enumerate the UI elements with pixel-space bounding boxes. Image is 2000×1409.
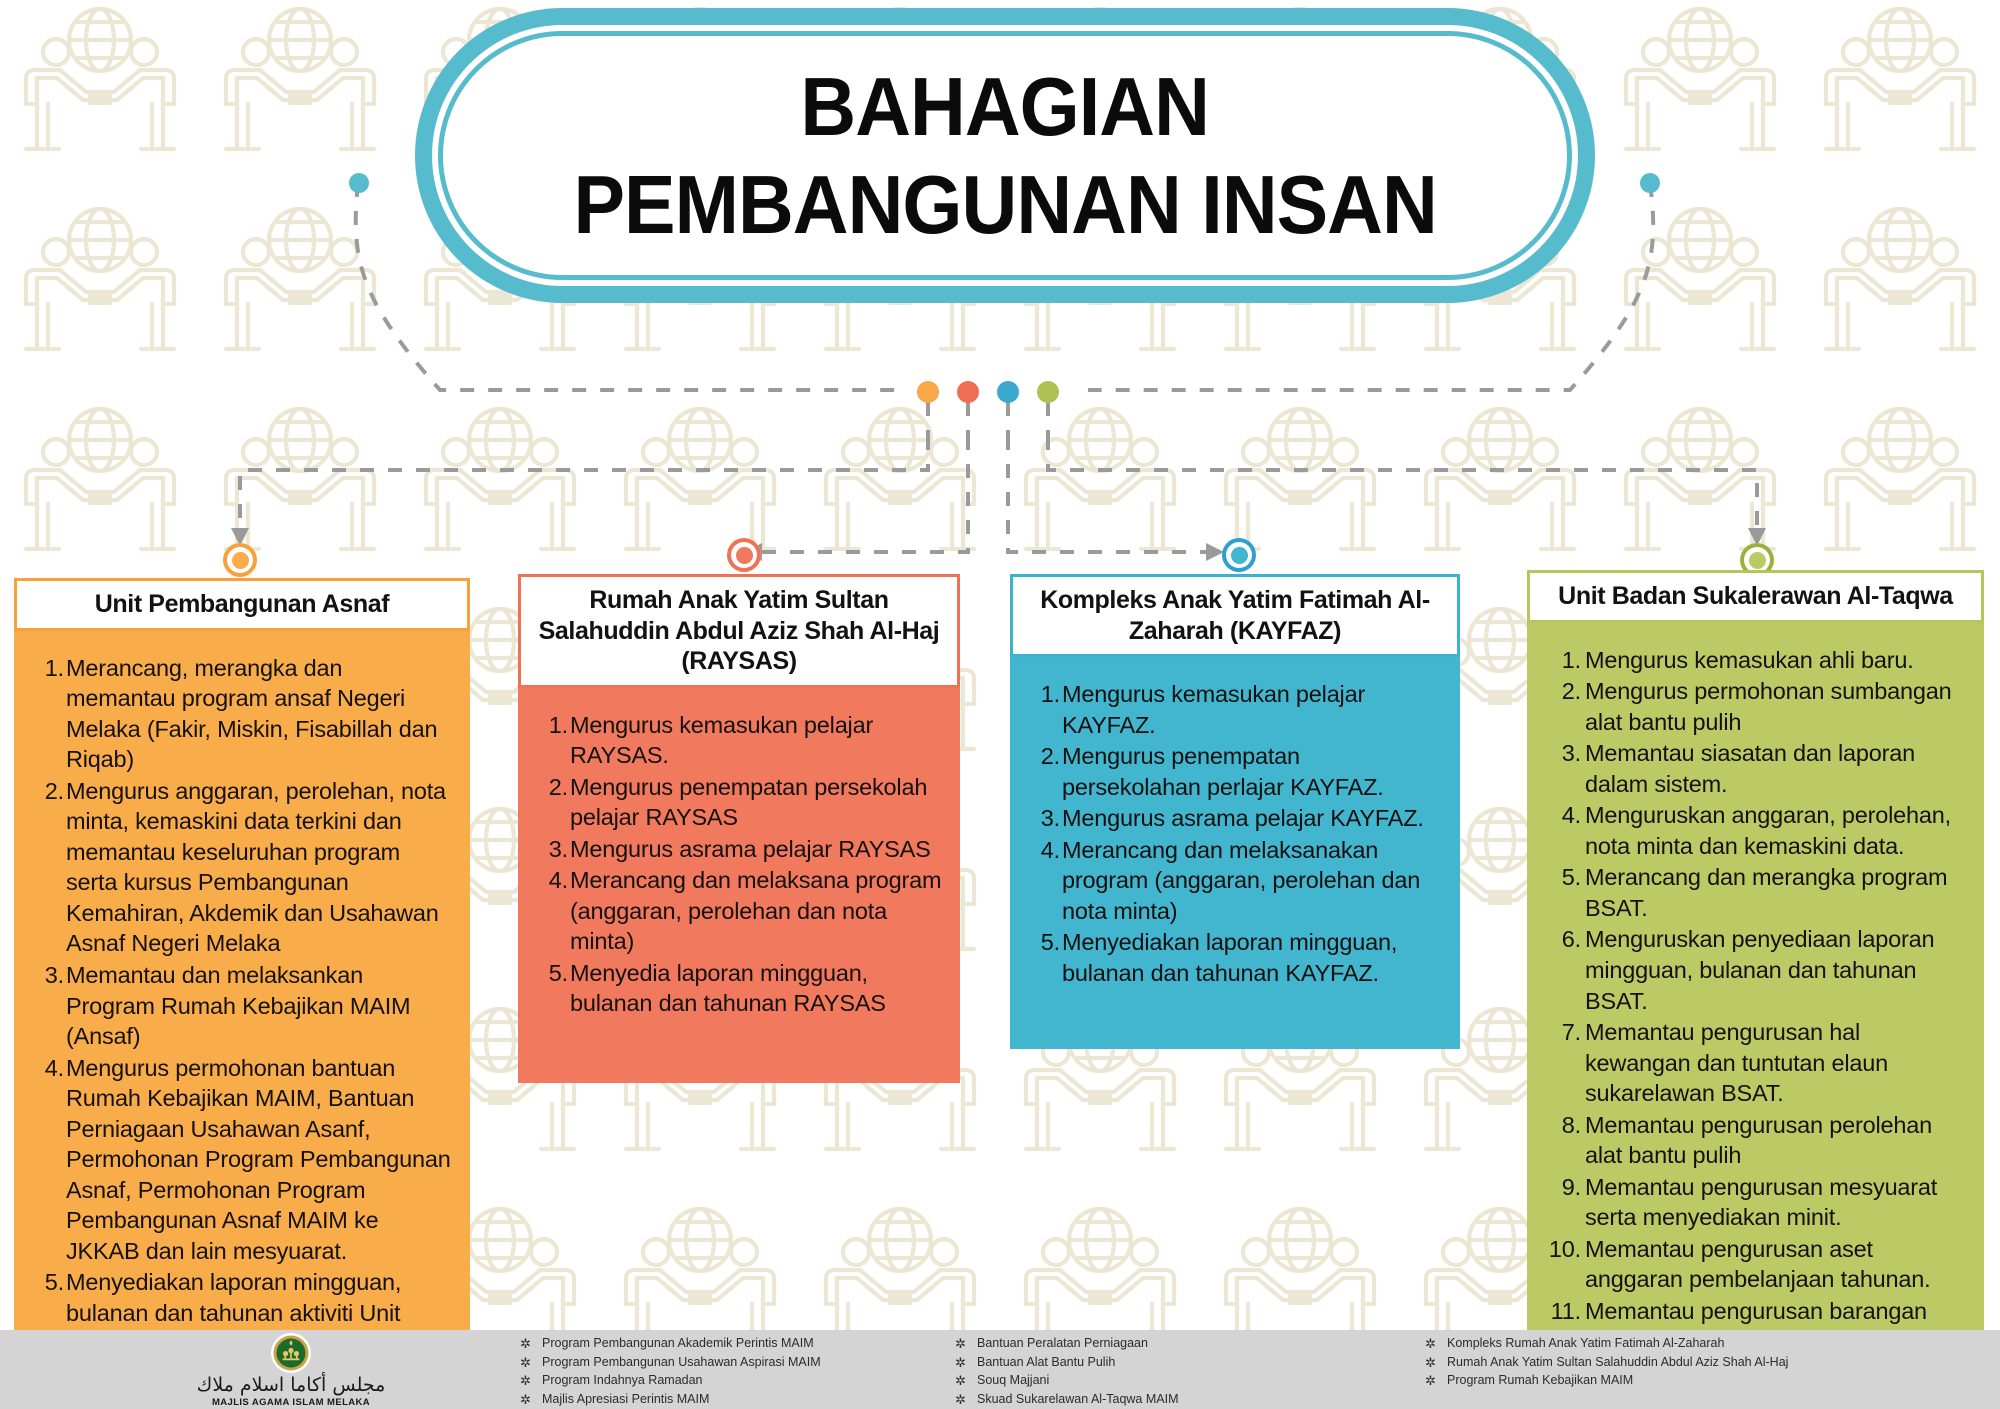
asterisk-bullet-icon: ✲ [955,1393,977,1406]
footer-list-item: ✲ Program Pembangunan Akademik Perintis … [520,1337,940,1350]
footer-list-item-label: Skuad Sukarelawan Al-Taqwa MAIM [977,1393,1178,1406]
list-item: Menyediakan laporan mingguan, bulanan da… [1024,927,1442,988]
footer-list-item-label: Program Indahnya Ramadan [542,1374,703,1387]
hub-dot-green [1037,381,1059,403]
list-item: Mengurus anggaran, perolehan, nota minta… [28,776,452,959]
footer-bar: مجلس أكاما اسلام ملاك MAJLIS AGAMA ISLAM… [0,1330,2000,1409]
list-item: Merancang dan melaksana program (anggara… [532,865,942,957]
list-item: Menyedia laporan mingguan, bulanan dan t… [532,958,942,1019]
poster-header-banner: BAHAGIAN PEMBANGUNAN INSAN [415,8,1595,303]
asterisk-bullet-icon: ✲ [520,1393,542,1406]
list-item: Mengurus penempatan persekolah pelajar R… [532,772,942,833]
list-item: Mengurus asrama pelajar RAYSAS [532,834,942,865]
column-body-raysas: Mengurus kemasukan pelajar RAYSAS. Mengu… [518,688,960,1083]
asterisk-bullet-icon: ✲ [520,1337,542,1350]
task-list-kayfaz: Mengurus kemasukan pelajar KAYFAZ. Mengu… [1024,679,1442,988]
footer-list-item: ✲ Rumah Anak Yatim Sultan Salahuddin Abd… [1425,1356,1985,1369]
footer-list-item-label: Program Pembangunan Usahawan Aspirasi MA… [542,1356,821,1369]
footer-list-item: ✲ Program Rumah Kebajikan MAIM [1425,1374,1985,1387]
hub-dot-red [957,381,979,403]
footer-list-item-label: Majlis Apresiasi Perintis MAIM [542,1393,709,1406]
list-item: Memantau siasatan dan laporan dalam sist… [1541,738,1966,799]
list-item: Mengurus kemasukan ahli baru. [1541,645,1966,676]
footer-list-item: ✲ Souq Majjani [955,1374,1385,1387]
footer-list-item-label: Souq Majjani [977,1374,1049,1387]
footer-list-item: ✲ Skuad Sukarelawan Al-Taqwa MAIM [955,1393,1385,1406]
footer-program-list-3: ✲ Kompleks Rumah Anak Yatim Fatimah Al-Z… [1425,1337,1985,1393]
footer-list-item-label: Program Pembangunan Akademik Perintis MA… [542,1337,814,1350]
column-body-kayfaz: Mengurus kemasukan pelajar KAYFAZ. Mengu… [1010,657,1460,1049]
asterisk-bullet-icon: ✲ [520,1374,542,1387]
list-item: Memantau dan melaksankan Program Rumah K… [28,960,452,1052]
asterisk-bullet-icon: ✲ [955,1337,977,1350]
column-title-kayfaz: Kompleks Anak Yatim Fatimah Al-Zaharah (… [1023,585,1447,646]
column-body-bsat: Mengurus kemasukan ahli baru. Mengurus p… [1527,623,1984,1379]
task-list-raysas: Mengurus kemasukan pelajar RAYSAS. Mengu… [532,710,942,1019]
footer-list-item-label: Kompleks Rumah Anak Yatim Fatimah Al-Zah… [1447,1337,1724,1350]
footer-list-item: ✲ Kompleks Rumah Anak Yatim Fatimah Al-Z… [1425,1337,1985,1350]
list-item: Mengurus penempatan persekolahan perlaja… [1024,741,1442,802]
task-list-bsat: Mengurus kemasukan ahli baru. Mengurus p… [1541,645,1966,1358]
asterisk-bullet-icon: ✲ [520,1356,542,1369]
footer-list-item: ✲ Program Indahnya Ramadan [520,1374,940,1387]
column-kayfaz: Kompleks Anak Yatim Fatimah Al-Zaharah (… [1010,574,1460,1049]
column-unit-badan-sukalerawan-al-taqwa: Unit Badan Sukalerawan Al-Taqwa Mengurus… [1527,570,1984,1378]
list-item: Merancang dan melaksanakan program (angg… [1024,835,1442,927]
banner-right-accent-dot [1640,173,1660,193]
task-list-asnaf: Merancang, merangka dan memantau program… [28,653,452,1360]
list-item: Memantau pengurusan hal kewangan dan tun… [1541,1017,1966,1109]
footer-list-item: ✲ Bantuan Peralatan Perniagaan [955,1337,1385,1350]
list-item: Merancang, merangka dan memantau program… [28,653,452,775]
hub-dot-orange [917,381,939,403]
ring-marker-raysas [727,538,761,572]
footer-program-list-1: ✲ Program Pembangunan Akademik Perintis … [520,1337,940,1409]
asterisk-bullet-icon: ✲ [1425,1356,1447,1369]
banner-left-accent-dot [349,173,369,193]
hub-dot-blue [997,381,1019,403]
column-header-bsat: Unit Badan Sukalerawan Al-Taqwa [1527,570,1984,623]
list-item: Mengurus kemasukan pelajar RAYSAS. [532,710,942,771]
list-item: Mengurus permohonan sumbangan alat bantu… [1541,676,1966,737]
maim-logo: مجلس أكاما اسلام ملاك MAJLIS AGAMA ISLAM… [196,1332,386,1408]
list-item: Memantau pengurusan mesyuarat serta meny… [1541,1172,1966,1233]
list-item: Menguruskan anggaran, perolehan, nota mi… [1541,800,1966,861]
poster-title-line-1: BAHAGIAN [801,62,1210,152]
column-body-asnaf: Merancang, merangka dan memantau program… [14,631,470,1381]
list-item: Menguruskan penyediaan laporan mingguan,… [1541,924,1966,1016]
asterisk-bullet-icon: ✲ [1425,1374,1447,1387]
infographic-poster: BAHAGIAN PEMBANGUNAN INSAN Unit Pembangu… [0,0,2000,1409]
asterisk-bullet-icon: ✲ [955,1374,977,1387]
ring-marker-asnaf [223,543,257,577]
maim-wordmark: MAJLIS AGAMA ISLAM MELAKA [212,1397,370,1408]
column-header-asnaf: Unit Pembangunan Asnaf [14,578,470,631]
footer-list-item-label: Bantuan Alat Bantu Pulih [977,1356,1115,1369]
column-title-bsat: Unit Badan Sukalerawan Al-Taqwa [1558,581,1953,612]
column-header-kayfaz: Kompleks Anak Yatim Fatimah Al-Zaharah (… [1010,574,1460,657]
poster-header-inner-frame: BAHAGIAN PEMBANGUNAN INSAN [438,31,1572,280]
column-title-raysas: Rumah Anak Yatim Sultan Salahuddin Abdul… [531,585,947,677]
footer-list-item: ✲ Bantuan Alat Bantu Pulih [955,1356,1385,1369]
column-title-asnaf: Unit Pembangunan Asnaf [95,589,389,620]
list-item: Mengurus kemasukan pelajar KAYFAZ. [1024,679,1442,740]
ring-marker-kayfaz [1222,538,1256,572]
poster-title-line-2: PEMBANGUNAN INSAN [573,160,1436,250]
list-item: Memantau pengurusan aset anggaran pembel… [1541,1234,1966,1295]
column-header-raysas: Rumah Anak Yatim Sultan Salahuddin Abdul… [518,574,960,688]
column-raysas: Rumah Anak Yatim Sultan Salahuddin Abdul… [518,574,960,1083]
maim-crest-icon [270,1332,312,1374]
asterisk-bullet-icon: ✲ [1425,1337,1447,1350]
footer-list-item-label: Bantuan Peralatan Perniagaan [977,1337,1148,1350]
asterisk-bullet-icon: ✲ [955,1356,977,1369]
list-item: Merancang dan merangka program BSAT. [1541,862,1966,923]
column-unit-pembangunan-asnaf: Unit Pembangunan Asnaf Merancang, merang… [14,578,470,1380]
list-item: Memantau pengurusan perolehan alat bantu… [1541,1110,1966,1171]
list-item: Mengurus permohonan bantuan Rumah Kebaji… [28,1053,452,1267]
maim-arabic-script: مجلس أكاما اسلام ملاك [197,1376,386,1395]
footer-list-item: ✲ Majlis Apresiasi Perintis MAIM [520,1393,940,1406]
footer-list-item: ✲ Program Pembangunan Usahawan Aspirasi … [520,1356,940,1369]
footer-list-item-label: Program Rumah Kebajikan MAIM [1447,1374,1633,1387]
list-item: Mengurus asrama pelajar KAYFAZ. [1024,803,1442,834]
footer-list-item-label: Rumah Anak Yatim Sultan Salahuddin Abdul… [1447,1356,1788,1369]
footer-program-list-2: ✲ Bantuan Peralatan Perniagaan ✲ Bantuan… [955,1337,1385,1409]
